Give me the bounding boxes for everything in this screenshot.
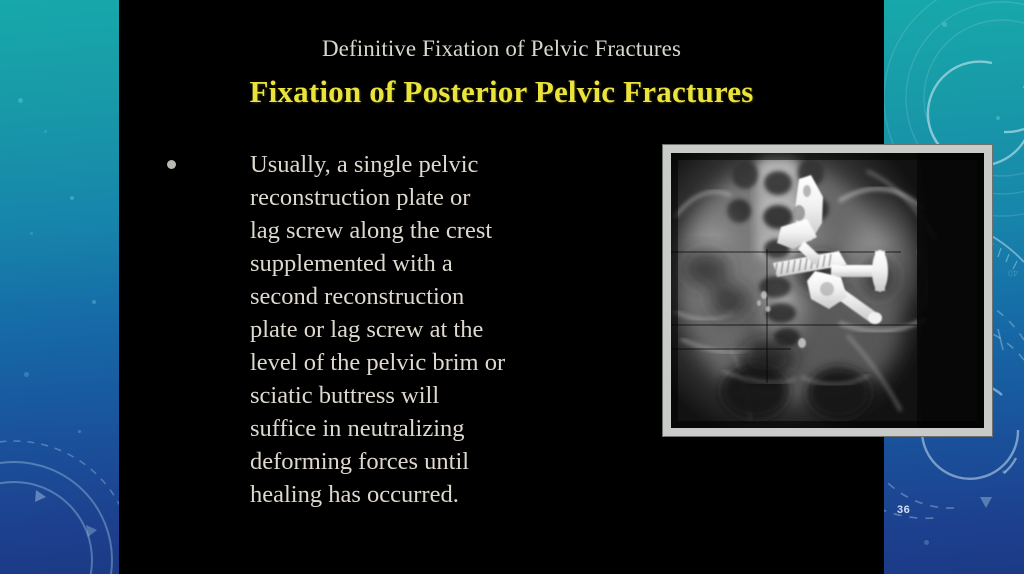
- svg-text:40: 40: [1008, 268, 1018, 278]
- slide-screenshot: 120 100 80 60 40: [0, 0, 1024, 574]
- slide-kicker: Definitive Fixation of Pelvic Fractures: [119, 36, 884, 62]
- left-panel-hud-graphics: [0, 0, 119, 574]
- bullet-line: lag screw along the crest: [250, 217, 492, 244]
- bullet-line: Usually, a single pelvic: [250, 151, 478, 178]
- bullet-dot-icon: [167, 160, 176, 169]
- slide-title: Fixation of Posterior Pelvic Fractures: [119, 74, 884, 110]
- slide-content-area: Definitive Fixation of Pelvic Fractures …: [119, 0, 884, 574]
- page-number: 36: [897, 504, 910, 516]
- bullet-line: suffice in neutralizing: [250, 415, 465, 442]
- xray-image-frame: [662, 144, 993, 437]
- bullet-body-text: Usually, a single pelvic reconstruction …: [250, 148, 589, 511]
- bullet-line: sciatic buttress will: [250, 382, 439, 409]
- bullet-list-item: Usually, a single pelvic reconstruction …: [159, 148, 589, 511]
- bullet-line: level of the pelvic brim or: [250, 349, 505, 376]
- bullet-line: second reconstruction: [250, 283, 464, 310]
- bullet-line: deforming forces until: [250, 448, 469, 475]
- xray-radiograph: [671, 153, 984, 428]
- bullet-line: supplemented with a: [250, 250, 453, 277]
- bullet-line: reconstruction plate or: [250, 184, 470, 211]
- bullet-line: plate or lag screw at the: [250, 316, 483, 343]
- pelvis-radiograph-graphic: [671, 153, 984, 428]
- left-decorative-panel: [0, 0, 119, 574]
- bullet-line: healing has occurred.: [250, 481, 459, 508]
